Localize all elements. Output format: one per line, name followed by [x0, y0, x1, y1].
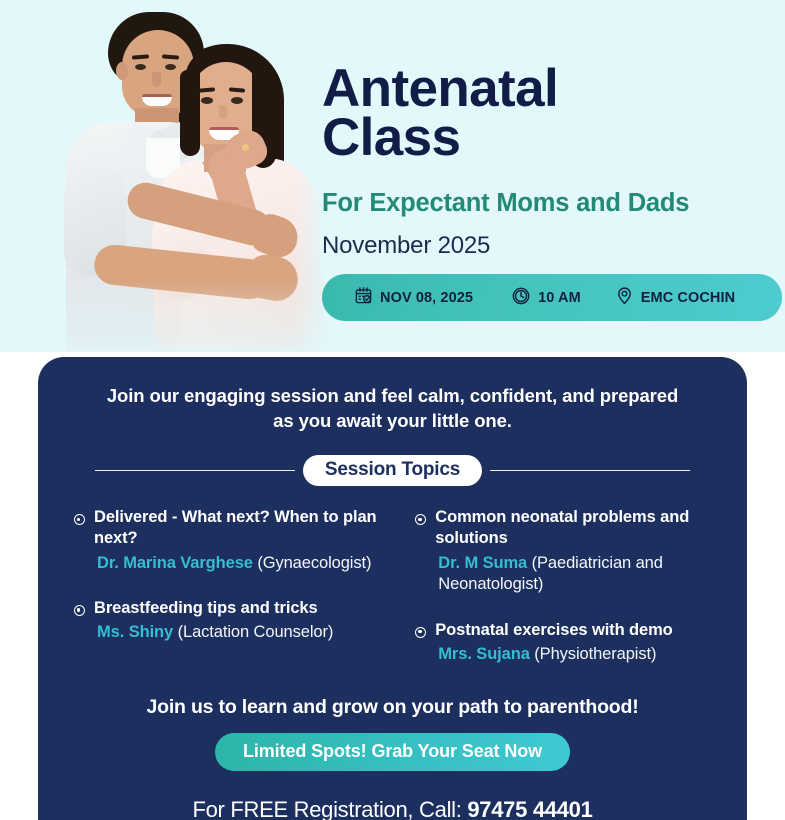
- clock-icon: [511, 286, 531, 310]
- page-subtitle: For Expectant Moms and Dads: [322, 189, 762, 218]
- expectant-couple-photo: [30, 0, 330, 352]
- cta-button-wrap: Limited Spots! Grab Your Seat Now: [38, 733, 747, 771]
- topic-speaker: Mrs. Sujana (Physiotherapist): [435, 644, 711, 666]
- details-panel: Join our engaging session and feel calm,…: [38, 357, 747, 820]
- topic-title: Postnatal exercises with demo: [435, 620, 711, 641]
- list-item: Common neonatal problems and solutions D…: [415, 507, 711, 596]
- topic-body: Common neonatal problems and solutions D…: [435, 507, 711, 596]
- info-time-label: 10 AM: [538, 290, 581, 306]
- speaker-role: (Lactation Counselor): [178, 623, 334, 641]
- topic-speaker: Dr. Marina Varghese (Gynaecologist): [94, 553, 381, 575]
- list-item: Breastfeeding tips and tricks Ms. Shiny …: [74, 598, 381, 644]
- topic-title: Breastfeeding tips and tricks: [94, 598, 381, 619]
- speaker-role: (Gynaecologist): [257, 554, 371, 572]
- info-date-label: NOV 08, 2025: [380, 290, 473, 306]
- topic-speaker: Dr. M Suma (Paediatrician and Neonatolog…: [435, 553, 711, 597]
- header-text-block: Antenatal Class For Expectant Moms and D…: [322, 64, 762, 260]
- antenatal-class-poster: Antenatal Class For Expectant Moms and D…: [0, 0, 785, 820]
- divider-line-left: [95, 470, 295, 471]
- info-location: EMC COCHIN: [615, 286, 735, 309]
- topics-column-right: Common neonatal problems and solutions D…: [403, 507, 711, 690]
- location-pin-icon: [615, 286, 634, 309]
- info-date: NOV 08, 2025: [354, 286, 473, 309]
- topics-column-left: Delivered - What next? When to plan next…: [74, 507, 381, 690]
- topic-speaker: Ms. Shiny (Lactation Counselor): [94, 622, 381, 644]
- topic-body: Breastfeeding tips and tricks Ms. Shiny …: [94, 598, 381, 644]
- radio-bullet-icon: [415, 514, 426, 525]
- session-topics-divider: Session Topics: [95, 455, 690, 485]
- speaker-name: Ms. Shiny: [97, 623, 173, 641]
- call-number[interactable]: 97475 44401: [467, 797, 592, 820]
- info-location-label: EMC COCHIN: [641, 290, 735, 306]
- page-title-line2: Class: [322, 113, 762, 162]
- intro-text: Join our engaging session and feel calm,…: [98, 383, 687, 433]
- event-info-bar: NOV 08, 2025 10 AM: [322, 274, 782, 321]
- info-time: 10 AM: [511, 286, 581, 310]
- speaker-name: Dr. M Suma: [438, 554, 527, 572]
- topic-title: Delivered - What next? When to plan next…: [94, 507, 381, 549]
- speaker-role: (Physiotherapist): [534, 645, 656, 663]
- call-prefix: For FREE Registration, Call:: [192, 797, 467, 820]
- calendar-check-icon: [354, 286, 373, 309]
- speaker-name: Mrs. Sujana: [438, 645, 530, 663]
- registration-call-line: For FREE Registration, Call: 97475 44401: [38, 797, 747, 820]
- session-topics-badge: Session Topics: [303, 455, 482, 486]
- divider-line-right: [490, 470, 690, 471]
- grab-seat-button[interactable]: Limited Spots! Grab Your Seat Now: [215, 733, 570, 771]
- speaker-name: Dr. Marina Varghese: [97, 554, 253, 572]
- event-month: November 2025: [322, 232, 762, 260]
- radio-bullet-icon: [74, 514, 85, 525]
- cta-headline: Join us to learn and grow on your path t…: [38, 696, 747, 719]
- radio-bullet-icon: [415, 627, 426, 638]
- list-item: Delivered - What next? When to plan next…: [74, 507, 381, 574]
- list-item: Postnatal exercises with demo Mrs. Sujan…: [415, 620, 711, 666]
- topics-columns: Delivered - What next? When to plan next…: [74, 507, 711, 690]
- page-title-line1: Antenatal: [322, 64, 762, 113]
- topic-title: Common neonatal problems and solutions: [435, 507, 711, 549]
- topic-body: Delivered - What next? When to plan next…: [94, 507, 381, 574]
- photo-edge-fade: [30, 0, 330, 352]
- photo-canvas: [30, 0, 330, 352]
- radio-bullet-icon: [74, 605, 85, 616]
- topic-body: Postnatal exercises with demo Mrs. Sujan…: [435, 620, 711, 666]
- poster-header: Antenatal Class For Expectant Moms and D…: [0, 0, 785, 352]
- page-title: Antenatal Class: [322, 64, 762, 163]
